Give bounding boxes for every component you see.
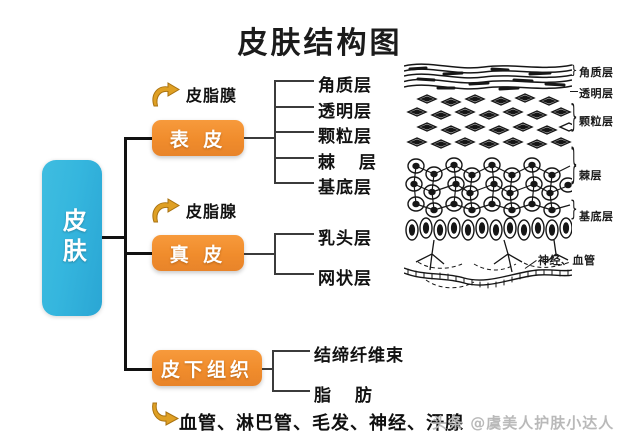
leaf-label-epidermis-2: 颗粒层 <box>318 122 372 147</box>
leaf-bracket-subcutaneous <box>272 350 274 391</box>
leaf-line-epidermis-3 <box>274 157 314 159</box>
annotation-sebaceous-gland: 皮脂腺 <box>186 198 237 222</box>
leaf-label-epidermis-3: 棘 层 <box>318 148 385 173</box>
branch-node-epidermis[interactable]: 表 皮 <box>152 120 244 156</box>
connector-dermis-to-leaves <box>244 253 274 255</box>
annotation-skin-appendages: 血管、淋巴管、毛发、神经、汗腺 <box>179 409 464 435</box>
illustration-brace-2: } <box>570 98 578 134</box>
leaf-label-epidermis-4: 基底层 <box>318 173 372 198</box>
root-node-skin[interactable]: 皮肤 <box>42 160 102 316</box>
illustration-label-3: 棘层 <box>579 167 602 183</box>
leaf-line-epidermis-2 <box>274 131 314 133</box>
connector-arm-epidermis <box>124 137 154 140</box>
connector-arm-dermis <box>124 252 154 255</box>
leaf-label-dermis-0: 乳头层 <box>318 224 372 249</box>
leaf-label-epidermis-1: 透明层 <box>318 97 372 122</box>
connector-root-stem <box>102 236 126 239</box>
leaf-bracket-dermis <box>274 233 276 274</box>
leaf-line-dermis-0 <box>274 233 314 235</box>
leaf-line-epidermis-4 <box>274 182 314 184</box>
watermark: 头条 @虞美人护肤小达人 <box>432 412 614 433</box>
branch-node-epidermis-label: 表 皮 <box>170 125 227 152</box>
illustration-brace-4: } <box>570 196 578 221</box>
illustration-label-4: 基底层 <box>579 208 614 224</box>
illustration-brace-3: } <box>570 140 578 188</box>
diagram-canvas: 皮肤结构图 皮肤 表 皮 真 皮 皮下组织 皮脂膜 皮脂腺 血管、淋巴管、 <box>0 0 640 441</box>
leaf-line-subcutaneous-0 <box>272 350 310 352</box>
branch-node-dermis[interactable]: 真 皮 <box>152 235 244 271</box>
illustration-label-2: 颗粒层 <box>579 113 614 129</box>
illustration-label-5: 神经、血管 <box>538 252 596 268</box>
leaf-line-epidermis-0 <box>274 80 314 82</box>
connector-subcutaneous-to-leaves <box>262 368 272 370</box>
connector-arm-subcutaneous <box>124 368 154 371</box>
leaf-line-epidermis-1 <box>274 106 314 108</box>
illustration-tick-1 <box>570 91 578 92</box>
connector-epidermis-to-leaves <box>244 137 274 139</box>
curved-arrow-icon-appendages <box>148 398 182 436</box>
leaf-line-subcutaneous-1 <box>272 390 310 392</box>
root-node-label: 皮肤 <box>55 208 90 268</box>
leaf-label-subcutaneous-1: 脂 肪 <box>314 381 381 406</box>
leaf-label-dermis-1: 网状层 <box>318 264 372 289</box>
illustration-label-0: 角质层 <box>579 64 614 80</box>
branch-node-subcutaneous[interactable]: 皮下组织 <box>152 350 262 386</box>
leaf-label-subcutaneous-0: 结缔纤维束 <box>314 341 404 366</box>
curved-arrow-icon-sebum-film <box>148 80 184 114</box>
curved-arrow-icon-sebaceous-gland <box>148 196 184 230</box>
illustration-label-1: 透明层 <box>579 85 614 101</box>
branch-node-dermis-label: 真 皮 <box>170 240 227 267</box>
annotation-sebum-film: 皮脂膜 <box>186 82 237 106</box>
leaf-line-dermis-1 <box>274 273 314 275</box>
leaf-label-epidermis-0: 角质层 <box>318 71 372 96</box>
illustration-brace-0: } <box>570 63 578 77</box>
branch-node-subcutaneous-label: 皮下组织 <box>161 355 253 382</box>
page-title: 皮肤结构图 <box>0 18 640 62</box>
